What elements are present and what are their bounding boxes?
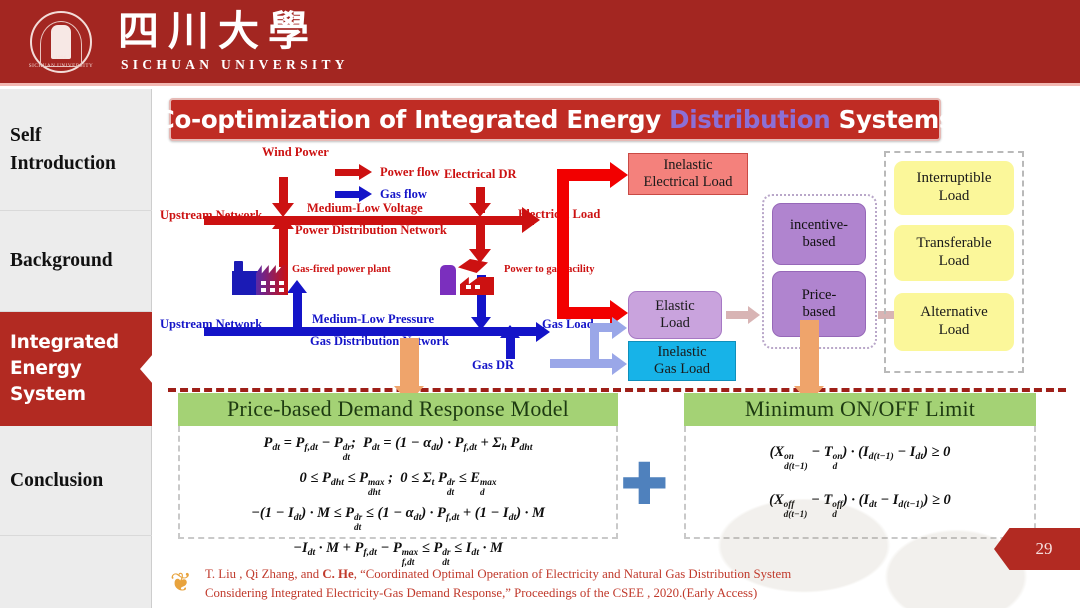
panel-left-body: Pdt = Pf,dt − Pdrdt; Pdt = (1 − αdt) · P… <box>178 426 618 539</box>
gas-branch-arrow-elastic-icon <box>612 317 627 339</box>
page-number-badge: 29 <box>994 528 1080 570</box>
slide-title-banner: Co-optimization of Integrated Energy Dis… <box>169 98 941 141</box>
label-wind-power: Wind Power <box>262 145 329 159</box>
seal-year: 1896 <box>55 56 67 61</box>
label-electrical-dr: Electrical DR <box>444 167 517 181</box>
label-gas-load: Gas Load <box>542 317 594 331</box>
citation-leaf-icon: ❦ <box>170 570 192 596</box>
brand-name-chinese: 四川大學 <box>118 10 349 53</box>
equation-left-4: −Idt · M + Pf,dt − Pmaxf,dt ≤ Pdrdt ≤ Id… <box>186 540 610 568</box>
title-prefix: Co-optimization of Integrated Energy <box>157 105 669 134</box>
label-power-bus-voltage: Medium-Low Voltage <box>307 201 423 215</box>
citation-footer: T. Liu , Qi Zhang, and C. He, “Coordinat… <box>205 565 1005 604</box>
gas-branch-arrow-inelastic-gas-icon <box>612 353 627 375</box>
equation-right-2: (Xoffd(t−1) − Toffd) · (Idt − Id(t−1)) ≥… <box>692 492 1028 520</box>
university-seal-logo: 1896 SICHUAN UNIVERSITY <box>30 11 92 73</box>
gas-fired-power-plant-icon <box>232 261 288 295</box>
label-gas-fired-power-plant: Gas-fired power plant <box>292 264 391 276</box>
electrical-load-branch-trunk <box>557 169 569 319</box>
p2g-to-gasbus-arrow-icon <box>471 317 491 330</box>
panel-minimum-on-off-limit: Minimum ON/OFF Limit (Xond(t−1) − Tond) … <box>684 393 1036 539</box>
panel-join-plus-icon: ✚ <box>620 455 669 513</box>
elastic-to-dr-arrow-icon <box>748 306 760 324</box>
power-to-gas-facility-icon <box>440 259 502 297</box>
box-elastic-load[interactable]: Elastic Load <box>628 291 722 339</box>
panel-price-based-dr-model: Price-based Demand Response Model Pdt = … <box>178 393 618 539</box>
equation-right-1: (Xond(t−1) − Tond) · (Id(t−1) − Idt) ≥ 0 <box>692 444 1028 472</box>
citation-authors-pre: T. Liu , Qi Zhang, and <box>205 567 322 581</box>
box-transferable-load[interactable]: Transferable Load <box>894 225 1014 281</box>
legend-label-gas-flow: Gas flow <box>380 187 427 202</box>
equation-left-3: −(1 − Idt) · M ≤ Pdrdt ≤ (1 − αdt) · Pf,… <box>186 505 610 533</box>
box-price-based[interactable]: Price- based <box>772 271 866 337</box>
section-divider <box>168 388 1066 392</box>
box-alternative-load[interactable]: Alternative Load <box>894 293 1014 351</box>
gas-dr-arrow-icon <box>500 325 520 338</box>
gas-to-plant-stem <box>293 290 302 330</box>
panel-left-title: Price-based Demand Response Model <box>178 393 618 426</box>
sidebar-nav: Self Introduction Background Integrated … <box>0 89 152 608</box>
branch-arrow-inelastic-electrical-icon <box>610 162 628 188</box>
equation-left-2: 0 ≤ Pdht ≤ Pmaxdht ; 0 ≤ Σt Pdrdt ≤ Emax… <box>186 470 610 498</box>
power-flow-arrow-icon <box>335 169 359 176</box>
gas-dr-stem <box>506 335 515 359</box>
title-accent-word: Distribution <box>669 105 830 134</box>
legend-label-power-flow: Power flow <box>380 165 440 180</box>
sidebar-item-integrated-energy-system[interactable]: Integrated Energy System <box>0 312 152 426</box>
energy-system-diagram: Power flow Gas flow Upstream Network Med… <box>152 145 1080 390</box>
box-inelastic-electrical-load[interactable]: Inelastic Electrical Load <box>628 153 748 195</box>
box-incentive-based[interactable]: incentive- based <box>772 203 866 265</box>
label-power-distribution-network: Power Distribution Network <box>295 223 447 237</box>
electrical-dr-arrow-icon <box>469 203 491 217</box>
brand-name-english: SICHUAN UNIVERSITY <box>121 57 349 73</box>
citation-line-2: Considering Integrated Electricity-Gas D… <box>205 584 1005 603</box>
sidebar-item-self-introduction[interactable]: Self Introduction <box>0 89 152 211</box>
branch-to-inelastic-electrical <box>557 169 617 181</box>
legend-row-power-flow: Power flow <box>335 163 440 181</box>
connector-stem-right <box>800 320 819 390</box>
panel-right-body: (Xond(t−1) − Tond) · (Id(t−1) − Idt) ≥ 0… <box>684 426 1036 539</box>
gas-flow-arrow-tip-icon <box>359 186 372 202</box>
elastic-to-dr-connector <box>726 311 750 319</box>
sidebar-item-background[interactable]: Background <box>0 211 152 312</box>
seal-ring-text: SICHUAN UNIVERSITY <box>29 63 93 69</box>
power-to-gas-stem <box>476 219 485 253</box>
connector-stem-left <box>400 338 419 390</box>
label-gas-distribution-network: Gas Distribution Network <box>310 334 449 348</box>
page-title: Co-optimization of Integrated Energy Dis… <box>157 105 953 134</box>
brand-block: 四川大學 SICHUAN UNIVERSITY <box>118 10 349 72</box>
gas-to-plant-arrow-icon <box>287 280 307 293</box>
title-suffix: Systems <box>830 105 953 134</box>
label-gas-bus-pressure: Medium-Low Pressure <box>312 312 434 326</box>
label-power-to-gas-facility: Power to gas facility <box>504 264 595 276</box>
panel-right-title: Minimum ON/OFF Limit <box>684 393 1036 426</box>
power-flow-arrow-tip-icon <box>359 164 372 180</box>
box-inelastic-gas-load[interactable]: Inelastic Gas Load <box>628 341 736 381</box>
slide-header: 1896 SICHUAN UNIVERSITY 四川大學 SICHUAN UNI… <box>0 0 1080 86</box>
equation-left-1: Pdt = Pf,dt − Pdrdt; Pdt = (1 − αdt) · P… <box>186 435 610 463</box>
box-interruptible-load[interactable]: Interruptible Load <box>894 161 1014 215</box>
citation-line-1: , “Coordinated Optimal Operation of Elec… <box>354 567 791 581</box>
sidebar-item-conclusion[interactable]: Conclusion <box>0 426 152 536</box>
branch-to-elastic-load <box>557 307 617 319</box>
citation-author-bold: C. He <box>322 567 353 581</box>
gas-flow-arrow-icon <box>335 191 359 198</box>
gas-plant-output-arrow-icon <box>272 215 294 229</box>
label-gas-dr: Gas DR <box>472 358 514 372</box>
